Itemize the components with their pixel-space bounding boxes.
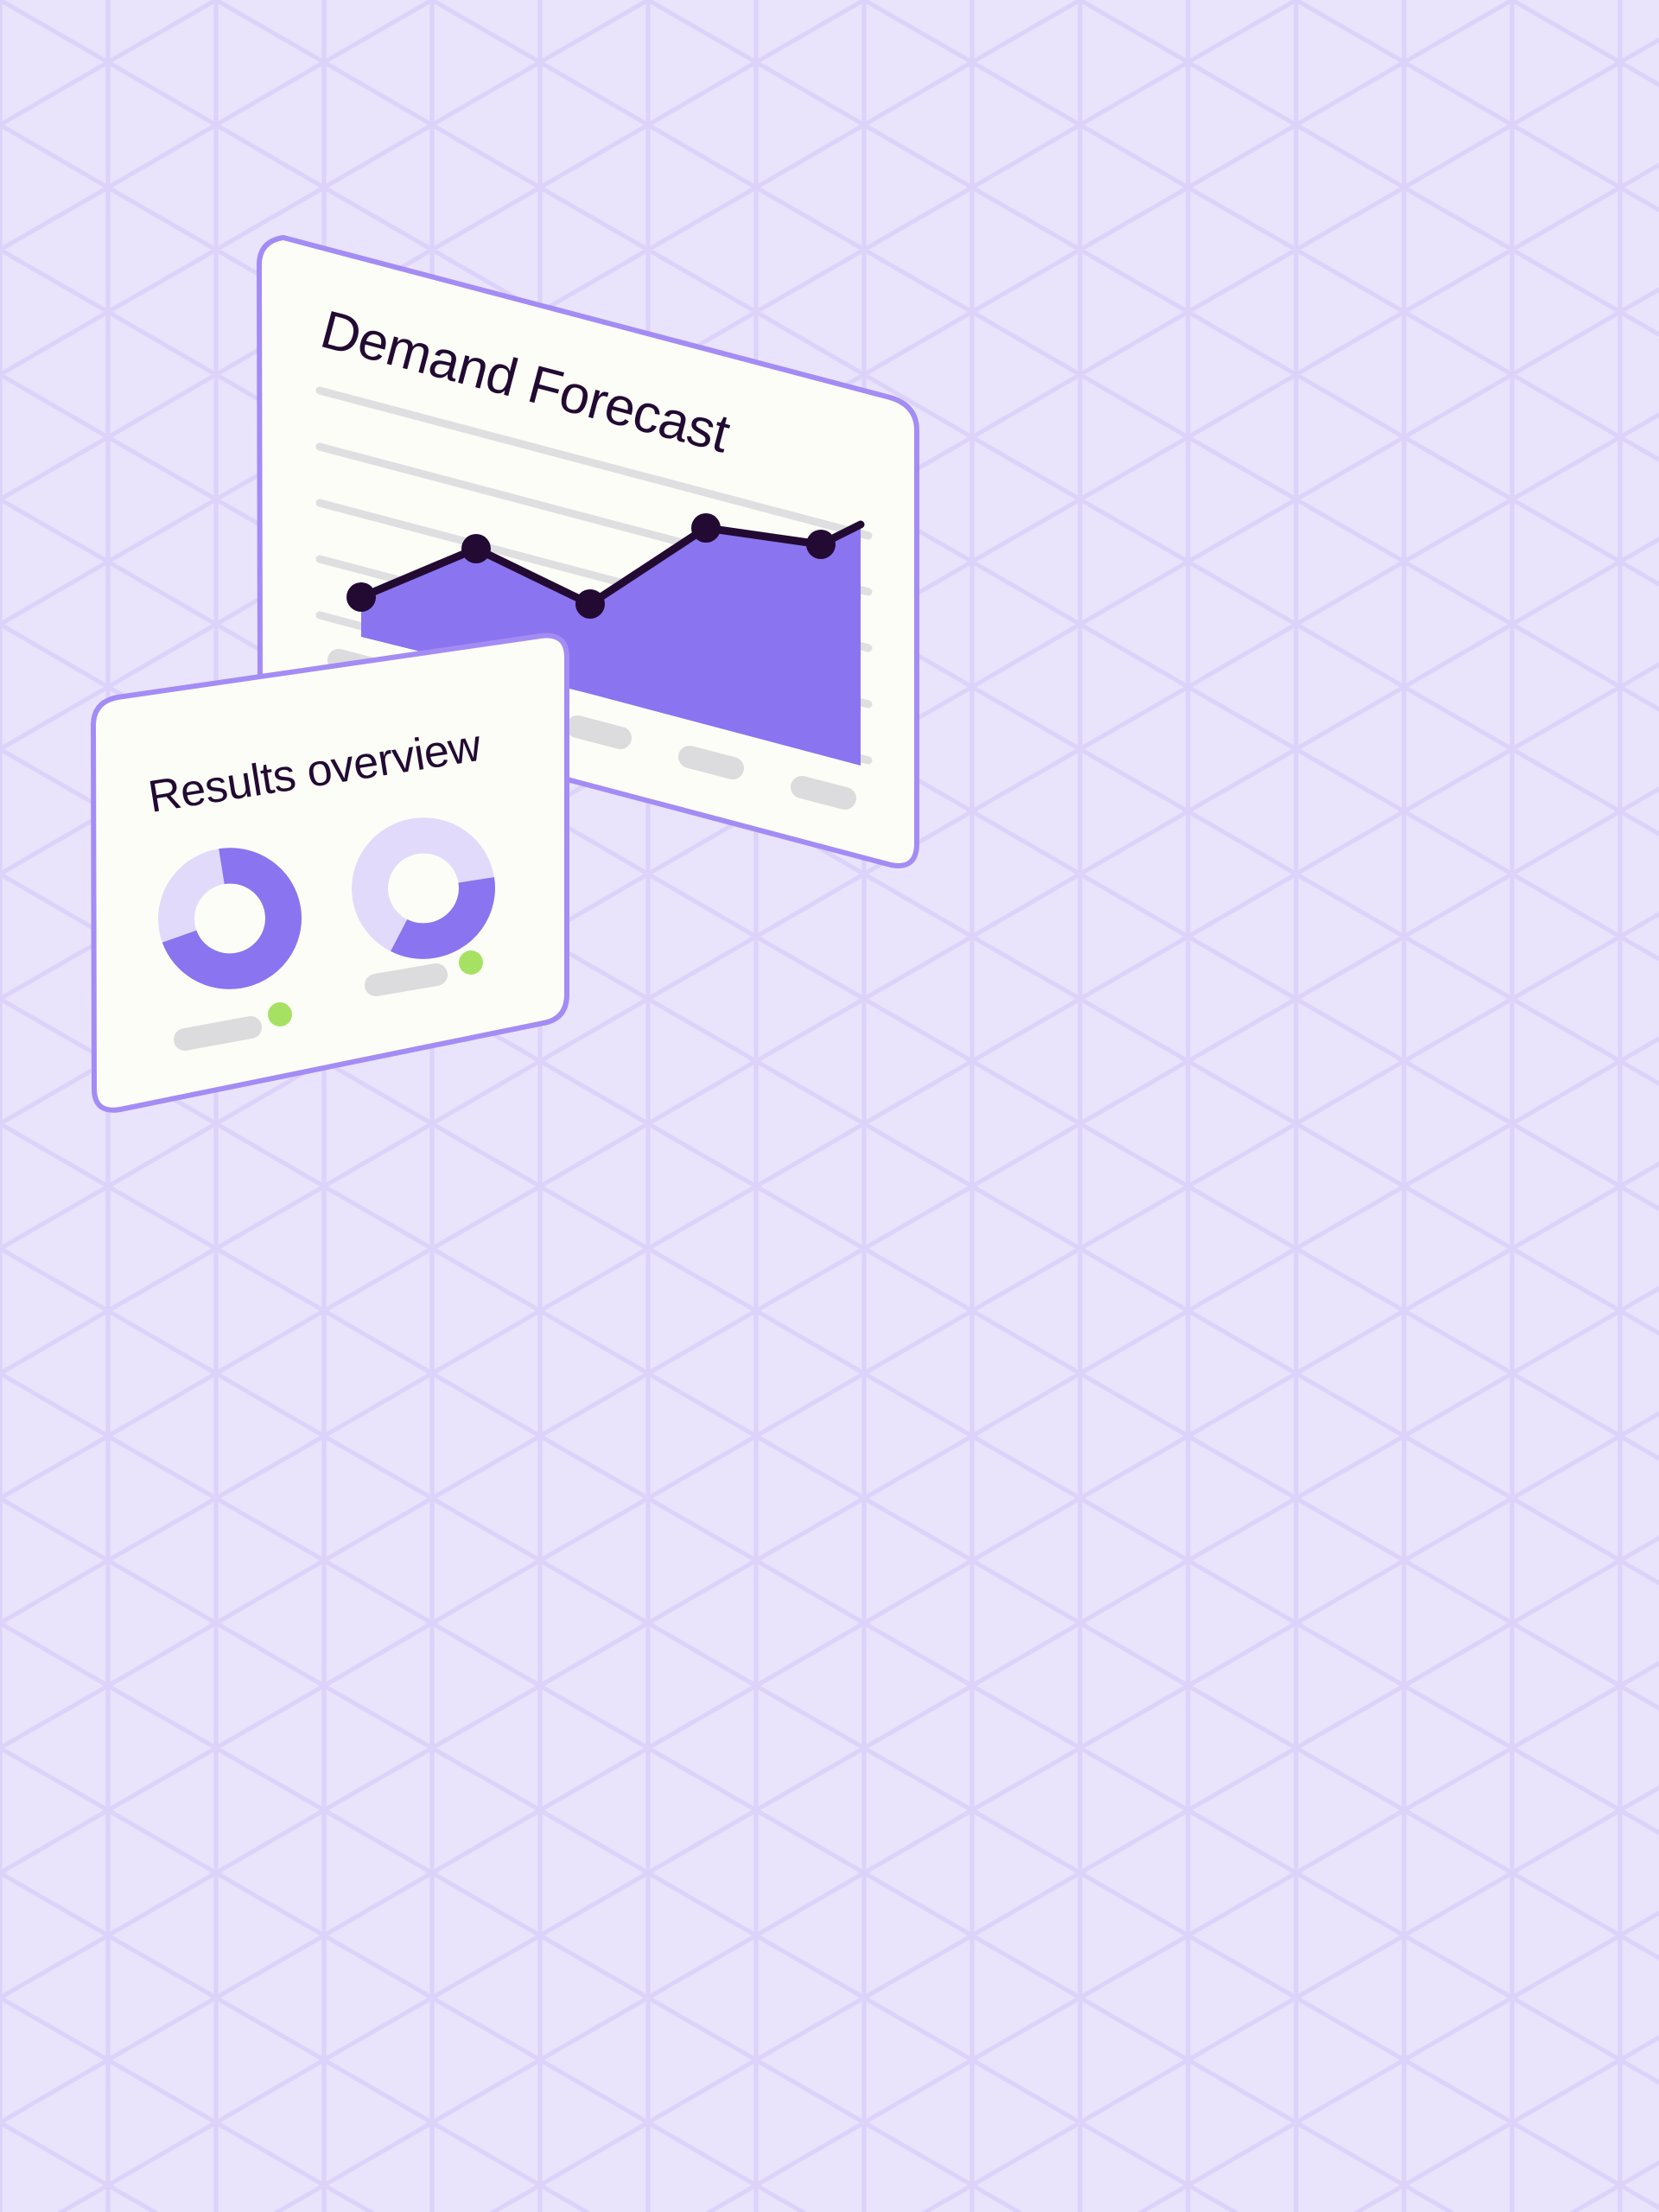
metric-label-right [376, 975, 436, 985]
data-point-1[interactable] [461, 534, 491, 563]
legend-pill-4 [802, 787, 845, 798]
background-grid [0, 0, 1659, 2212]
data-point-4[interactable] [806, 530, 836, 559]
isometric-scene: Demand Forecast [0, 0, 1659, 2212]
data-point-3[interactable] [691, 513, 721, 543]
legend-pill-3 [690, 757, 733, 768]
status-dot-left[interactable] [268, 1002, 292, 1027]
status-dot-right[interactable] [459, 950, 483, 975]
data-point-0[interactable] [346, 582, 376, 612]
legend-pill-2 [577, 727, 620, 738]
metric-label-left [185, 1027, 251, 1039]
data-point-2[interactable] [575, 589, 605, 619]
illustration-stage: Demand Forecast [0, 0, 1659, 2212]
